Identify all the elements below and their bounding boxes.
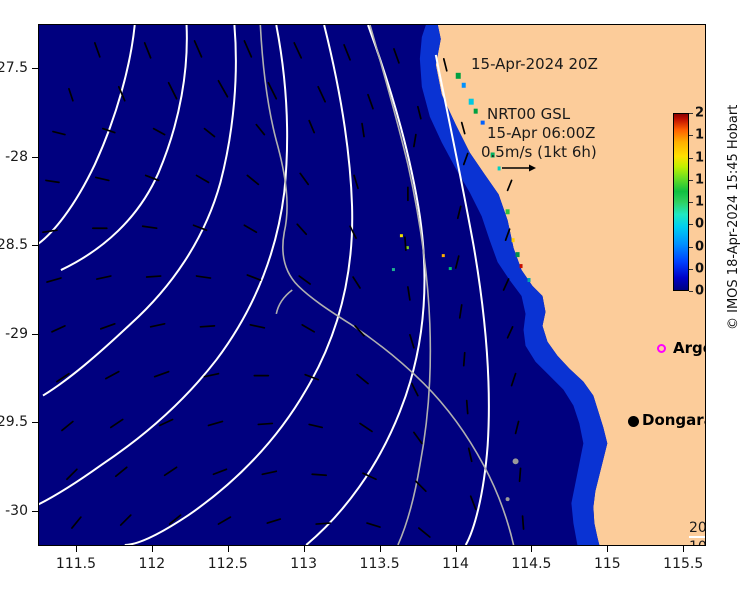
y-tick <box>32 157 38 158</box>
sst-age-map-figure: 15-Apr-2024 20Z NRT00 GSL 15-Apr 06:00Z … <box>0 0 740 592</box>
y-tick <box>32 511 38 512</box>
colorbar-tick <box>689 269 693 270</box>
colorbar-tick <box>689 135 693 136</box>
contour-200m-swatch <box>689 536 706 538</box>
y-tick-label: -29.5 <box>0 414 28 430</box>
y-tick <box>32 422 38 423</box>
depth-contour-key: 200m 1000m <box>689 520 706 546</box>
depth-key-row-1000m: 1000m <box>689 539 706 546</box>
credit-text: © IMOS 18-Apr-2024 15:45 Hobart <box>726 105 740 330</box>
x-tick <box>380 546 381 552</box>
colorbar-tick <box>689 224 693 225</box>
reference-arrow-icon <box>501 163 537 173</box>
colorbar-tick <box>689 180 693 181</box>
y-tick <box>32 68 38 69</box>
colorbar-tick-label: 2 <box>695 106 704 121</box>
y-tick-label: -27.5 <box>0 60 28 76</box>
colorbar-tick-label: 0.75 <box>695 217 706 232</box>
map-canvas <box>39 25 705 545</box>
y-tick <box>32 245 38 246</box>
x-tick <box>456 546 457 552</box>
argo-legend-label: Argo <box>673 339 706 357</box>
x-tick-label: 114 <box>442 556 469 572</box>
x-tick <box>152 546 153 552</box>
y-tick-label: -29 <box>5 326 28 342</box>
x-tick-label: 112 <box>138 556 165 572</box>
colorbar-tick <box>689 158 693 159</box>
colorbar-tick-label: 0.25 <box>695 261 706 276</box>
y-tick-label: -28 <box>5 149 28 165</box>
x-tick-label: 113 <box>290 556 317 572</box>
colorbar-tick <box>689 291 693 292</box>
x-tick <box>607 546 608 552</box>
x-tick-label: 114.5 <box>511 556 551 572</box>
colorbar-tick-label: 1 <box>695 195 704 210</box>
colorbar-tick-label: 1.25 <box>695 172 706 187</box>
depth-key-row-200m: 200m <box>689 520 706 539</box>
y-tick-label: -30 <box>5 503 28 519</box>
colorbar-tick-label: 0.5 <box>695 239 706 254</box>
y-tick <box>32 334 38 335</box>
vector-scale-label: 0.5m/s (1kt 6h) <box>481 143 597 161</box>
vector-time-label: 15-Apr 06:00Z <box>487 124 595 142</box>
dongara-city-label: Dongara <box>642 411 706 429</box>
colorbar-tick-label: 1.5 <box>695 150 706 165</box>
y-tick-label: -28.5 <box>0 237 28 253</box>
colorbar-tick <box>689 202 693 203</box>
contour-200m-label: 200m <box>689 520 706 536</box>
dongara-marker-icon <box>628 416 639 427</box>
x-tick <box>228 546 229 552</box>
colorbar-gradient <box>673 113 689 291</box>
colorbar-tick <box>689 113 693 114</box>
x-tick-label: 111.5 <box>56 556 96 572</box>
map-plot-area[interactable]: 15-Apr-2024 20Z NRT00 GSL 15-Apr 06:00Z … <box>38 24 706 546</box>
x-tick-label: 112.5 <box>208 556 248 572</box>
x-tick <box>304 546 305 552</box>
x-tick-label: 113.5 <box>360 556 400 572</box>
map-title-date: 15-Apr-2024 20Z <box>471 55 598 73</box>
argo-marker-icon <box>657 344 666 353</box>
x-tick <box>683 546 684 552</box>
contour-1000m-label: 1000m <box>689 539 706 546</box>
x-tick-label: 115.5 <box>663 556 703 572</box>
colorbar-tick <box>689 247 693 248</box>
colorbar-tick-label: 0 <box>695 284 704 299</box>
x-tick <box>531 546 532 552</box>
x-tick <box>76 546 77 552</box>
x-tick-label: 115 <box>594 556 621 572</box>
colorbar-tick-label: 1.75 <box>695 128 706 143</box>
vector-source-label: NRT00 GSL <box>487 105 570 123</box>
colorbar[interactable]: 21.751.51.2510.750.50.250 <box>673 113 689 291</box>
